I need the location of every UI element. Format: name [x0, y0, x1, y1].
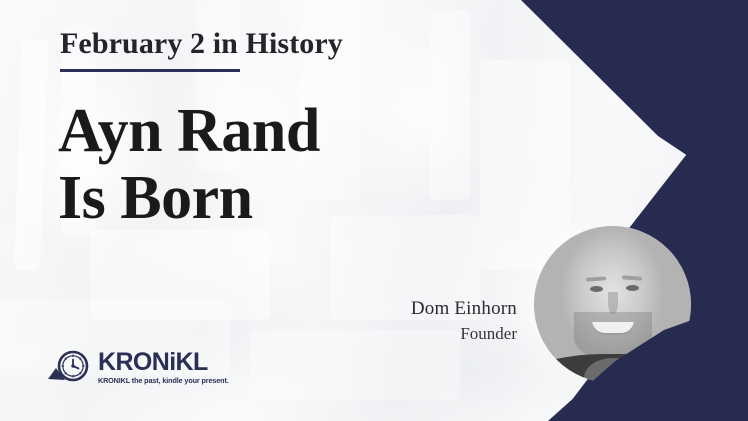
- logo-wordmark: KRONiKL: [98, 350, 229, 375]
- kicker-underline-rule: [60, 69, 240, 72]
- kicker-text: February 2 in History: [60, 28, 343, 60]
- presentation-slide: February 2 in History Ayn Rand Is Born D…: [0, 0, 748, 421]
- page-title: Ayn Rand Is Born: [58, 98, 320, 232]
- speaker-name: Dom Einhorn: [411, 298, 517, 320]
- logo-tagline: KRONIKL the past, kindle your present.: [98, 377, 229, 385]
- logo-text-lockup: KRONiKL KRONIKL the past, kindle your pr…: [98, 350, 229, 385]
- headline-line-2: Is Born: [58, 165, 320, 232]
- brand-logo[interactable]: KRONiKL KRONIKL the past, kindle your pr…: [48, 347, 229, 387]
- clock-dial-icon: [48, 347, 90, 387]
- headline-line-1: Ayn Rand: [58, 98, 320, 165]
- speaker-role: Founder: [411, 323, 517, 345]
- speaker-credit-block: Dom Einhorn Founder: [411, 298, 517, 345]
- kicker-block: February 2 in History: [60, 28, 343, 72]
